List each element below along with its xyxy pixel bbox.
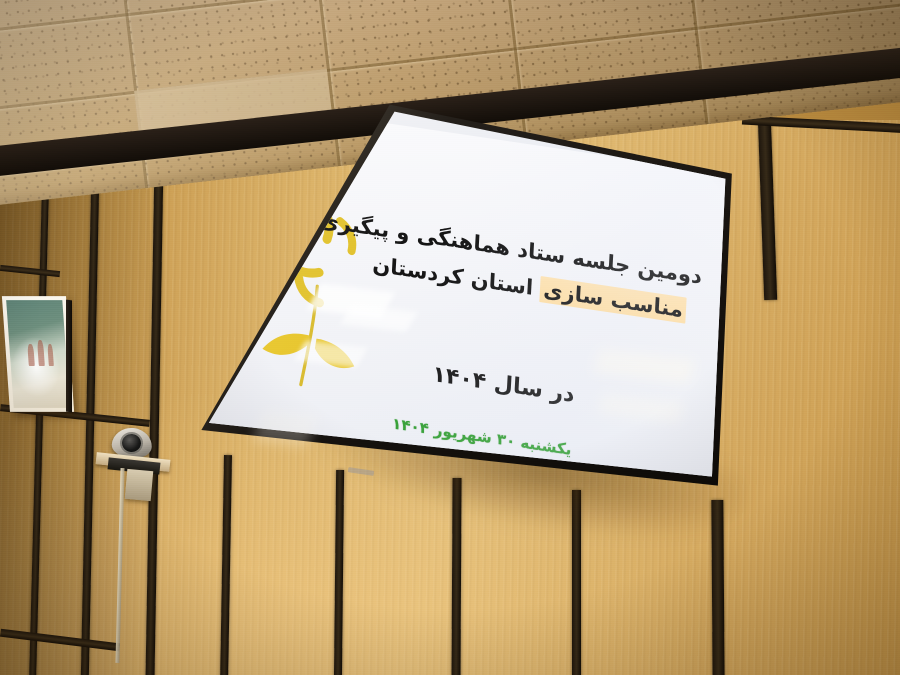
artwork-detail xyxy=(27,344,35,366)
picture-frame-edge xyxy=(66,300,72,413)
wall-mounted-display[interactable]: دومین جلسه ستاد هماهنگی و پیگیری مناسب س… xyxy=(196,96,734,488)
ptz-conference-camera xyxy=(96,416,182,516)
wall-joint xyxy=(451,478,461,675)
picture-artwork xyxy=(6,300,70,408)
display-brand-logo xyxy=(348,467,374,476)
room-photo-scene: دومین جلسه ستاد هماهنگی و پیگیری مناسب س… xyxy=(0,0,900,675)
slide-corner-date: ۱۴۰۳/۱۲/۲۵ xyxy=(599,483,642,488)
presentation-slide: دومین جلسه ستاد هماهنگی و پیگیری مناسب س… xyxy=(196,96,734,488)
artwork-detail xyxy=(37,340,45,366)
framed-artwork xyxy=(2,296,74,412)
artwork-detail xyxy=(47,344,54,366)
wall-joint xyxy=(572,490,581,675)
slide-title-line-3: در سال ۱۴۰۴ xyxy=(432,362,575,408)
wall-joint xyxy=(711,500,724,675)
slide-text-block: دومین جلسه ستاد هماهنگی و پیگیری مناسب س… xyxy=(196,96,734,488)
camera-wall-mount xyxy=(125,469,154,501)
